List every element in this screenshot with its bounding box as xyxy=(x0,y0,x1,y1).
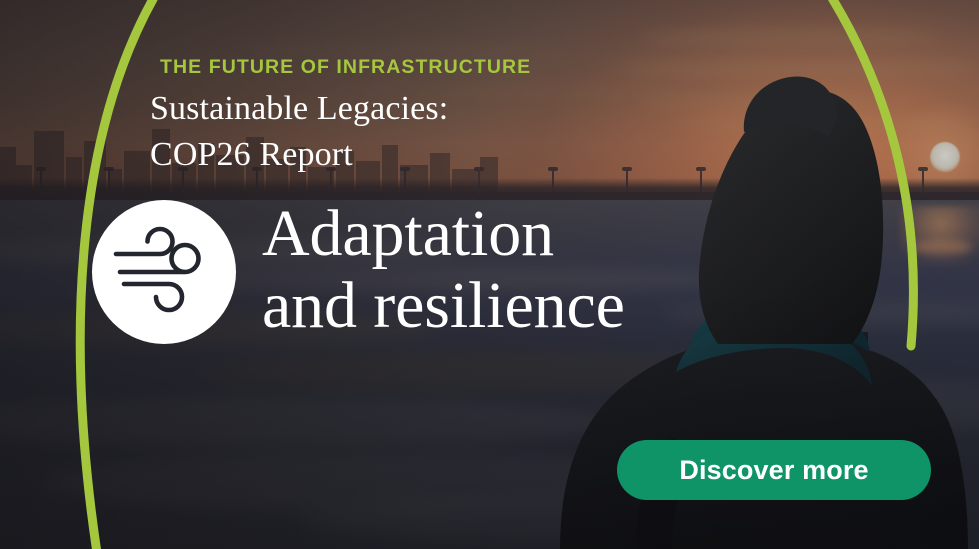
hero-banner: THE FUTURE OF INFRASTRUCTURE Sustainable… xyxy=(0,0,979,549)
discover-more-button[interactable]: Discover more xyxy=(617,440,931,500)
eyebrow-label: THE FUTURE OF INFRASTRUCTURE xyxy=(160,56,531,79)
wind-icon-badge xyxy=(92,200,236,344)
wind-icon xyxy=(112,220,216,324)
banner-subtitle: Sustainable Legacies: COP26 Report xyxy=(150,86,448,178)
page-title: Adaptation and resilience xyxy=(262,198,625,342)
